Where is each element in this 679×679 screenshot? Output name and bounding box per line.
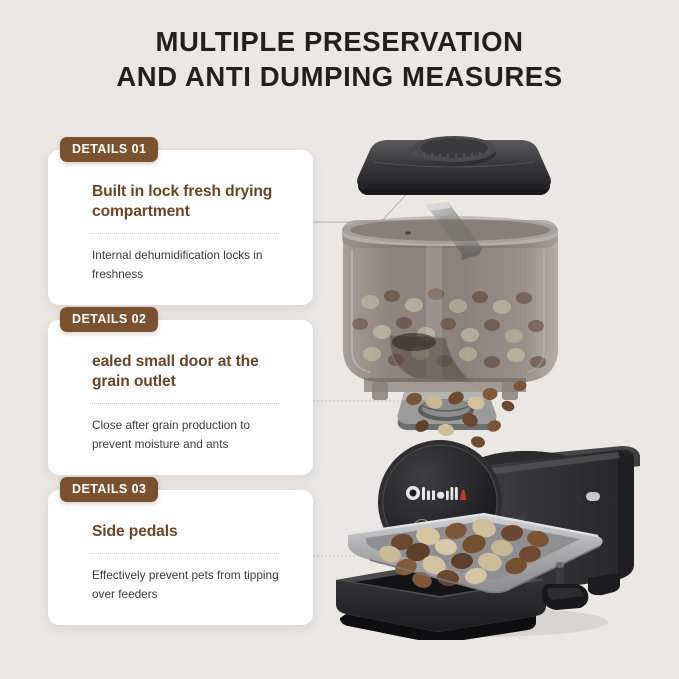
detail-card-3: DETAILS 03 Side pedals Effectively preve… xyxy=(48,490,313,625)
detail-card-2-body: ealed small door at the grain outlet Clo… xyxy=(48,320,313,475)
detail-card-3-divider xyxy=(90,553,279,554)
translucent-food-hopper xyxy=(342,216,558,400)
detail-card-3-text: Effectively prevent pets from tipping ov… xyxy=(92,566,287,603)
detail-card-2: DETAILS 02 ealed small door at the grain… xyxy=(48,320,313,475)
detail-card-1-divider xyxy=(90,233,279,234)
lid-with-knob xyxy=(357,136,551,195)
detail-card-2-heading: ealed small door at the grain outlet xyxy=(92,352,287,392)
side-slider-button[interactable] xyxy=(582,490,616,503)
detail-card-1-heading: Built in lock fresh drying compartment xyxy=(92,182,287,222)
detail-card-3-body: Side pedals Effectively prevent pets fro… xyxy=(48,490,313,625)
product-illustration xyxy=(330,110,675,640)
detail-card-1-body: Built in lock fresh drying compartment I… xyxy=(48,150,313,305)
detail-card-2-badge: DETAILS 02 xyxy=(60,307,158,332)
detail-card-2-divider xyxy=(90,403,279,404)
detail-card-1-badge: DETAILS 01 xyxy=(60,137,158,162)
detail-card-1: DETAILS 01 Built in lock fresh drying co… xyxy=(48,150,313,305)
detail-card-3-heading: Side pedals xyxy=(92,522,287,542)
infographic-page: MULTIPLE PRESERVATION AND ANTI DUMPING M… xyxy=(0,0,679,679)
detail-card-2-text: Close after grain production to prevent … xyxy=(92,416,287,453)
detail-card-3-badge: DETAILS 03 xyxy=(60,477,158,502)
detail-card-1-text: Internal dehumidification locks in fresh… xyxy=(92,246,287,283)
